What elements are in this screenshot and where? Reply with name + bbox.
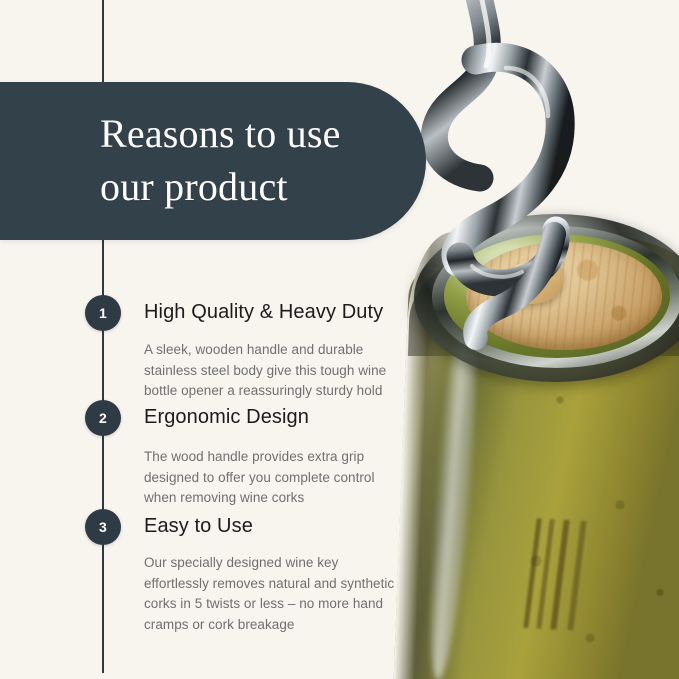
list-item-title: Ergonomic Design	[144, 406, 309, 429]
bottle-embossed-mark	[523, 518, 608, 631]
page-title: Reasons to use our product	[100, 108, 341, 214]
list-item-number-badge: 3	[85, 509, 121, 545]
list-item-title: High Quality & Heavy Duty	[144, 301, 383, 324]
promo-infographic: Reasons to use our product 1 High Qualit…	[0, 0, 679, 679]
corkscrew-helix-icon	[380, 0, 679, 414]
list-item-body: Our specially designed wine key effortle…	[144, 553, 406, 635]
title-panel: Reasons to use our product	[0, 82, 426, 240]
list-item-title: Easy to Use	[144, 515, 253, 538]
list-item-number-badge: 1	[85, 295, 121, 331]
list-item-number-badge: 2	[85, 400, 121, 436]
list-item-body: The wood handle provides extra grip desi…	[144, 447, 406, 509]
product-photo	[380, 0, 679, 679]
list-item-body: A sleek, wooden handle and durable stain…	[144, 340, 406, 402]
